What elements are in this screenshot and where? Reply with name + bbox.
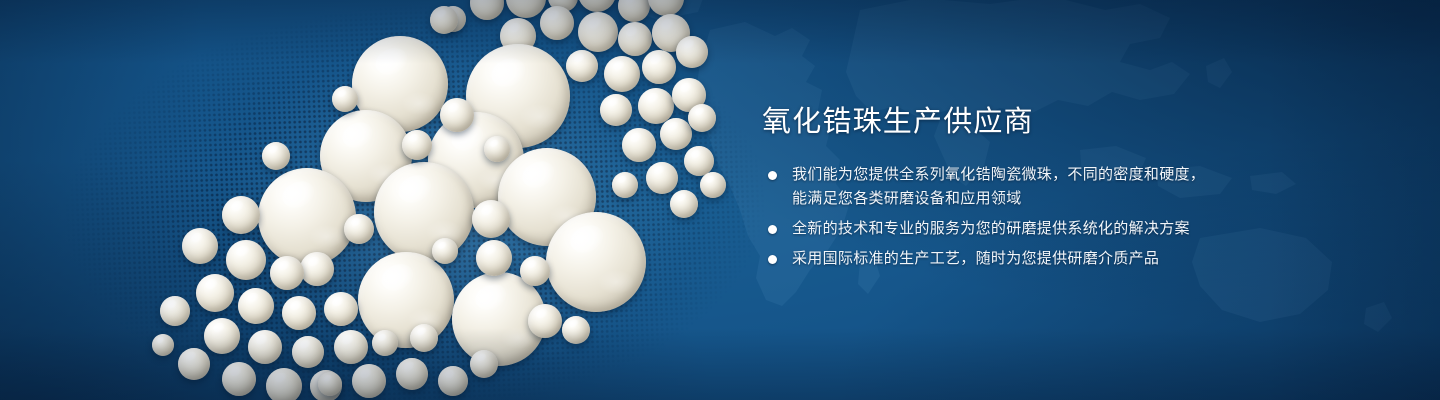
list-item: 我们能为您提供全系列氧化锆陶瓷微珠，不同的密度和硬度， 能满足您各类研磨设备和应… [762,163,1232,211]
bullet-dot-icon [768,225,777,234]
list-item: 全新的技术和专业的服务为您的研磨提供系统化的解决方案 [762,217,1232,241]
banner-title: 氧化锆珠生产供应商 [762,104,1232,141]
bullet-dot-icon [768,171,777,180]
hero-banner: 氧化锆珠生产供应商 我们能为您提供全系列氧化锆陶瓷微珠，不同的密度和硬度， 能满… [0,0,1440,400]
list-item: 采用国际标准的生产工艺，随时为您提供研磨介质产品 [762,247,1232,271]
banner-bullet-list: 我们能为您提供全系列氧化锆陶瓷微珠，不同的密度和硬度， 能满足您各类研磨设备和应… [762,163,1232,271]
banner-content: 氧化锆珠生产供应商 我们能为您提供全系列氧化锆陶瓷微珠，不同的密度和硬度， 能满… [762,104,1232,271]
bullet-text-line1: 采用国际标准的生产工艺，随时为您提供研磨介质产品 [792,250,1159,267]
bullet-dot-icon [768,255,777,264]
bullet-text-line2: 能满足您各类研磨设备和应用领域 [792,187,1232,211]
bullet-text-line1: 全新的技术和专业的服务为您的研磨提供系统化的解决方案 [792,220,1190,237]
bullet-text-line1: 我们能为您提供全系列氧化锆陶瓷微珠，不同的密度和硬度， [792,166,1205,183]
